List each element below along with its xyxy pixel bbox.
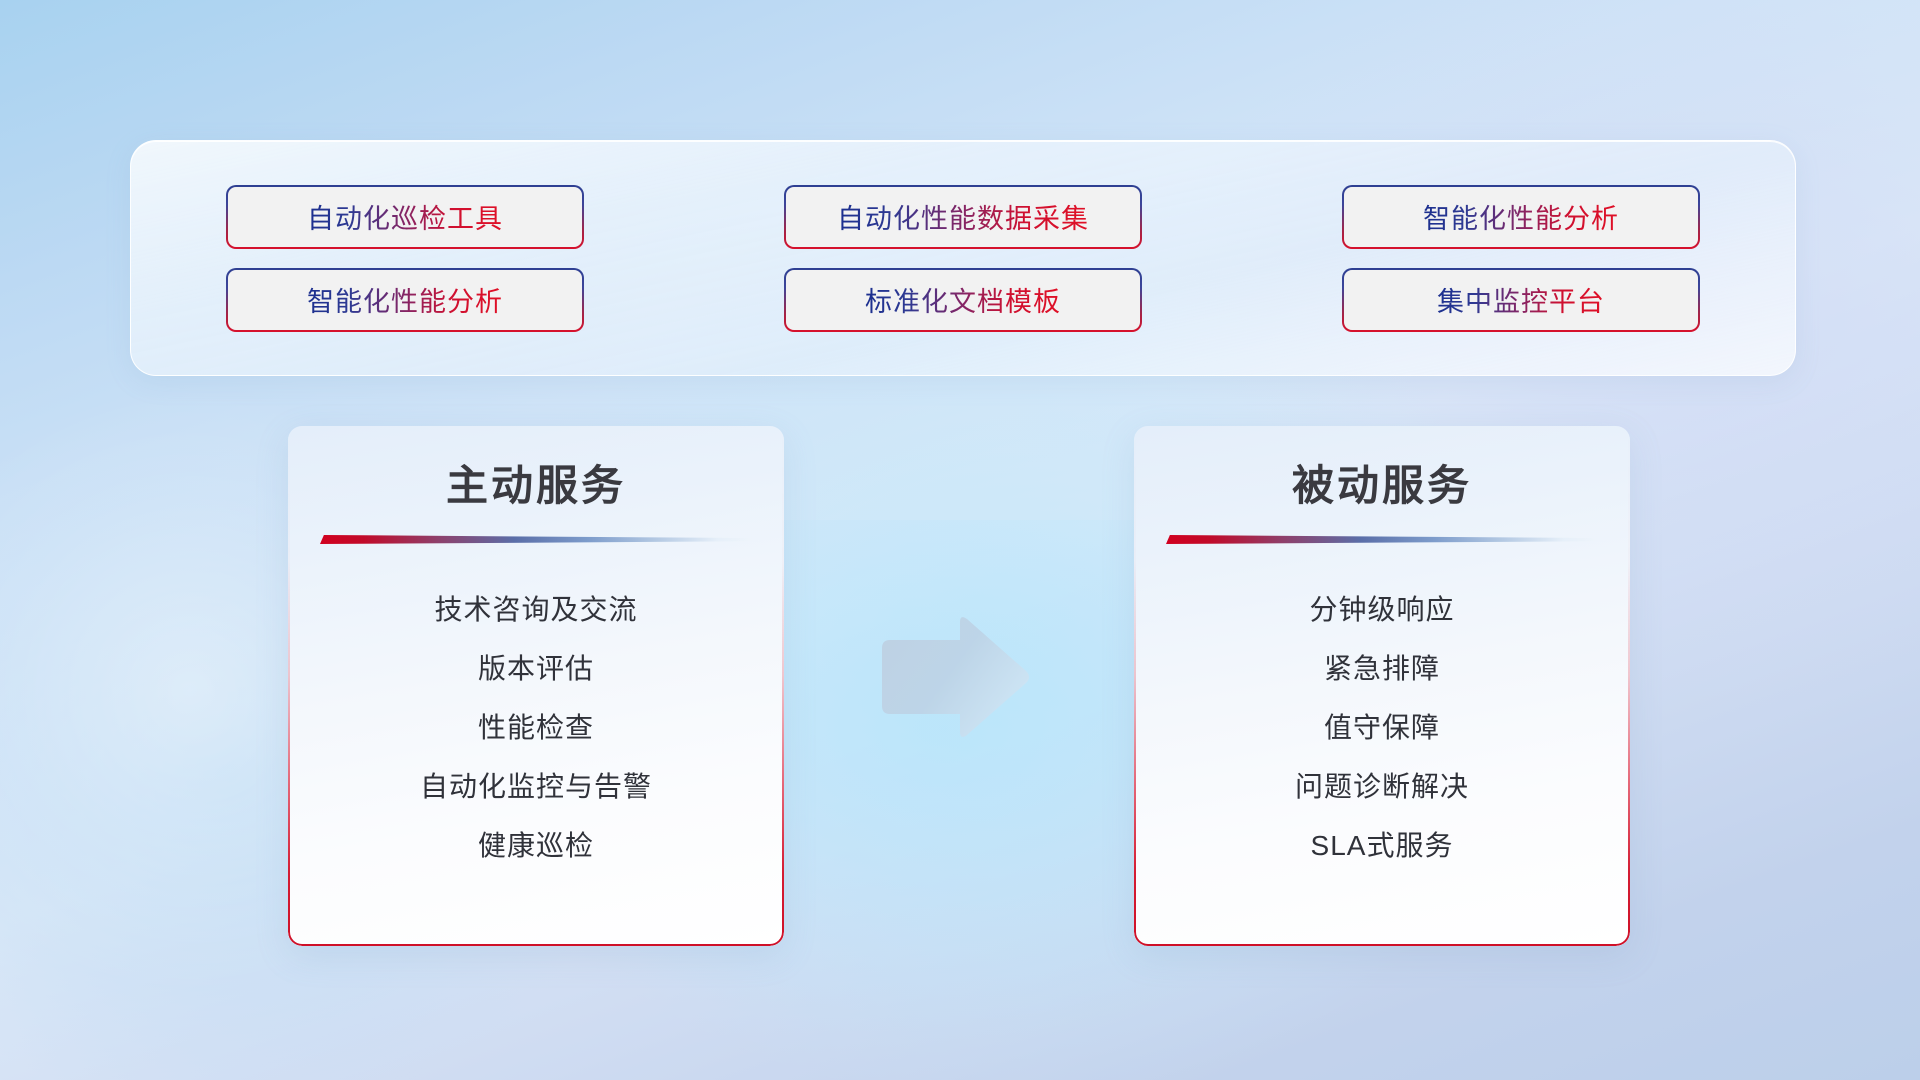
list-item: 自动化监控与告警	[420, 757, 652, 816]
list-item: 分钟级响应	[1309, 580, 1454, 639]
list-item: 紧急排障	[1324, 639, 1440, 698]
tag-item[interactable]: 自动化性能数据采集	[784, 185, 1142, 249]
tag-label: 自动化性能数据采集	[837, 197, 1089, 236]
tag-label: 集中监控平台	[1437, 280, 1605, 319]
title-divider	[320, 535, 752, 544]
tag-label: 标准化文档模板	[865, 280, 1061, 319]
capability-tag-panel: 自动化巡检工具 自动化性能数据采集 智能化性能分析 智能化性能分析 标准化文档模…	[130, 140, 1796, 376]
card-title: 主动服务	[288, 452, 784, 513]
list-item: 问题诊断解决	[1295, 757, 1469, 816]
service-list: 技术咨询及交流 版本评估 性能检查 自动化监控与告警 健康巡检	[288, 580, 784, 875]
diagram-canvas: 自动化巡检工具 自动化性能数据采集 智能化性能分析 智能化性能分析 标准化文档模…	[0, 0, 1920, 1080]
list-item: 值守保障	[1324, 698, 1440, 757]
title-divider-bar	[320, 535, 752, 544]
tag-row-2: 智能化性能分析 标准化文档模板 集中监控平台	[131, 268, 1795, 332]
card-title: 被动服务	[1134, 452, 1630, 513]
tag-item[interactable]: 智能化性能分析	[1342, 185, 1700, 249]
service-card-passive: 被动服务 分钟级响应 紧急排障 值守保障 问题诊断解决 SLA式服务	[1134, 426, 1630, 946]
tag-label: 自动化巡检工具	[307, 197, 503, 236]
tag-item[interactable]: 集中监控平台	[1342, 268, 1700, 332]
tag-item[interactable]: 标准化文档模板	[784, 268, 1142, 332]
tag-row-1: 自动化巡检工具 自动化性能数据采集 智能化性能分析	[131, 185, 1795, 249]
title-divider-bar	[1166, 535, 1598, 544]
list-item: 性能检查	[478, 698, 594, 757]
list-item: 技术咨询及交流	[434, 580, 637, 639]
tag-label: 智能化性能分析	[307, 280, 503, 319]
list-item: 健康巡检	[478, 816, 594, 875]
service-list: 分钟级响应 紧急排障 值守保障 问题诊断解决 SLA式服务	[1134, 580, 1630, 875]
list-item: SLA式服务	[1311, 816, 1454, 875]
tag-label: 智能化性能分析	[1423, 197, 1619, 236]
tag-item[interactable]: 自动化巡检工具	[226, 185, 584, 249]
arrow-right-icon	[874, 614, 1032, 742]
service-card-active: 主动服务 技术咨询及交流 版本评估 性能检查 自动化监控与告警 健康巡检	[288, 426, 784, 946]
list-item: 版本评估	[478, 639, 594, 698]
tag-item[interactable]: 智能化性能分析	[226, 268, 584, 332]
title-divider	[1166, 535, 1598, 544]
